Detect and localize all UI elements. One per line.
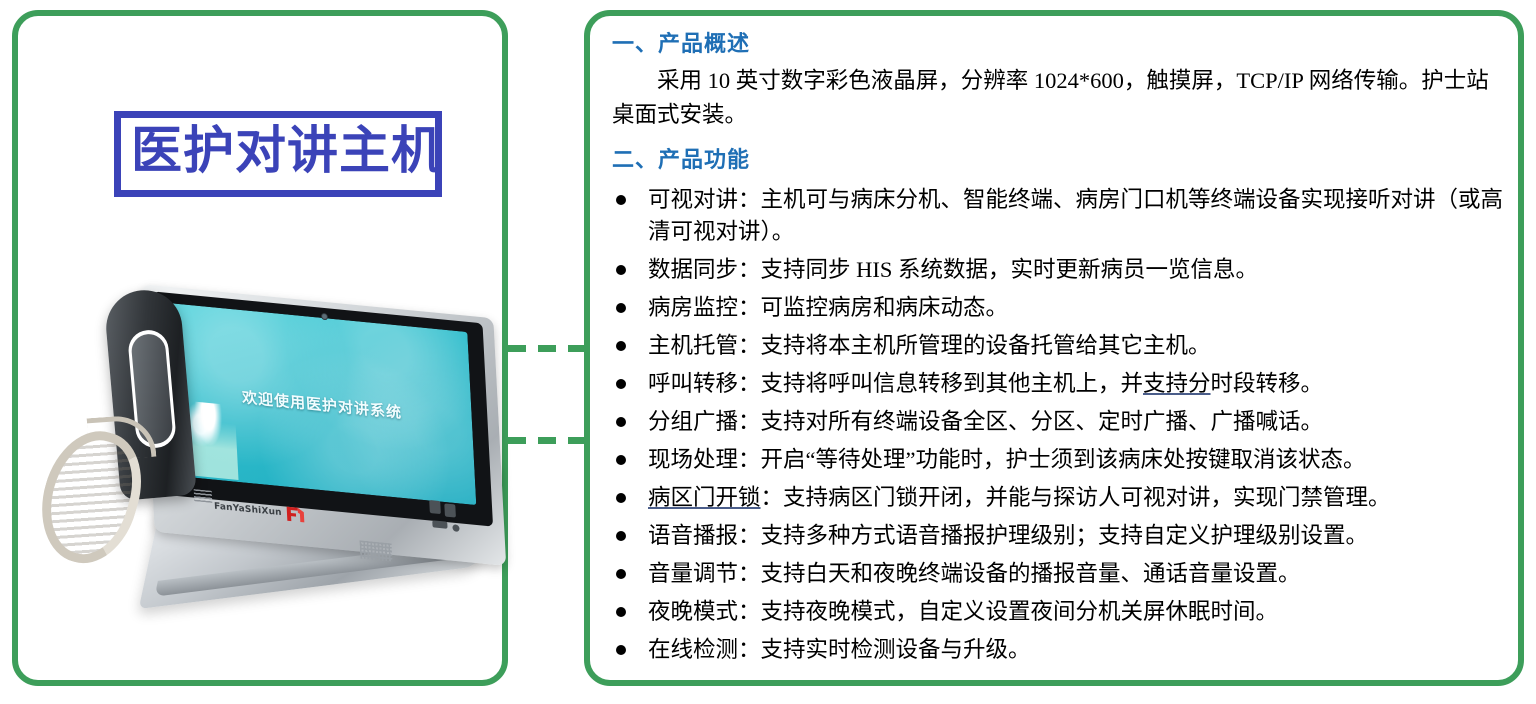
feature-text: 可视对讲：主机可与病床分机、智能终端、病房门口机等终端设备实现接听对讲（或高清可… [648,187,1503,244]
feature-text: 主机托管：支持将本主机所管理的设备托管给其它主机。 [648,333,1211,358]
page-title: 医护对讲主机 [131,125,425,179]
feature-text: 病房监控：可监控病房和病床动态。 [648,295,1008,320]
device-ports [427,496,473,541]
feature-text-tail: ：支持病区门锁开闭，并能与探访人可视对讲，实现门禁管理。 [761,485,1391,510]
product-title-box: 医护对讲主机 [114,111,442,197]
connector-dashed-top [508,345,586,352]
bullet-icon [616,303,626,313]
bullet-icon [616,645,626,655]
list-item: 数据同步：支持同步 HIS 系统数据，实时更新病员一览信息。 [612,254,1512,286]
product-image-panel: 医护对讲主机 欢迎使用医护对讲系统 FanYaShiXun [12,10,508,686]
camera-icon [321,313,328,321]
port-usb-1 [429,500,441,514]
overview-heading: 一、产品概述 [612,26,1512,58]
product-description-content: 一、产品概述 采用 10 英寸数字彩色液晶屏，分辨率 1024*600，触摸屏，… [612,26,1512,672]
list-item: 夜晚模式：支持夜晚模式，自定义设置夜间分机关屏休眠时间。 [612,596,1512,628]
connector-dashed-bottom [508,437,586,444]
feature-text-tail: 时段转移。 [1211,371,1324,396]
speaker-grille-right-icon [360,540,393,561]
brand-logo-text: FanYaShiXun [214,501,282,518]
port-audio [452,524,459,532]
list-item: 音量调节：支持白天和夜晚终端设备的播报音量、通话音量设置。 [612,558,1512,590]
feature-text: 语音播报：支持多种方式语音播报护理级别；支持自定义护理级别设置。 [648,523,1368,548]
features-heading: 二、产品功能 [612,142,1512,174]
feature-text: 夜晚模式：支持夜晚模式，自定义设置夜间分机关屏休眠时间。 [648,599,1278,624]
list-item: 在线检测：支持实时检测设备与升级。 [612,634,1512,666]
feature-text: 现场处理：开启“等待处理”功能时，护士须到该病床处按键取消该状态。 [648,447,1365,472]
device-photo: 欢迎使用医护对讲系统 FanYaShiXun [36,284,498,624]
overview-paragraph: 采用 10 英寸数字彩色液晶屏，分辨率 1024*600，触摸屏，TCP/IP … [612,64,1492,132]
bullet-icon [616,379,626,389]
bullet-icon [616,455,626,465]
bullet-icon [616,195,626,205]
list-item: 分组广播：支持对所有终端设备全区、分区、定时广播、广播喊话。 [612,406,1512,438]
feature-text-underlined: 病区门开锁 [648,485,761,510]
bullet-icon [616,569,626,579]
list-item: 现场处理：开启“等待处理”功能时，护士须到该病床处按键取消该状态。 [612,444,1512,476]
bullet-icon [616,341,626,351]
feature-text: 音量调节：支持白天和夜晚终端设备的播报音量、通话音量设置。 [648,561,1301,586]
feature-list: 可视对讲：主机可与病床分机、智能终端、病房门口机等终端设备实现接听对讲（或高清可… [612,184,1512,665]
bullet-icon [616,607,626,617]
list-item: 主机托管：支持将本主机所管理的设备托管给其它主机。 [612,330,1512,362]
feature-text-underlined: 支持分 [1143,371,1211,396]
list-item: 病房监控：可监控病房和病床动态。 [612,292,1512,324]
bullet-icon [616,417,626,427]
speaker-grille-left-icon [194,489,213,503]
list-item: 语音播报：支持多种方式语音播报护理级别；支持自定义护理级别设置。 [612,520,1512,552]
feature-text: 分组广播：支持对所有终端设备全区、分区、定时广播、广播喊话。 [648,409,1323,434]
feature-text: 数据同步：支持同步 HIS 系统数据，实时更新病员一览信息。 [648,257,1258,282]
feature-text: 呼叫转移：支持将呼叫信息转移到其他主机上，并 [648,371,1143,396]
port-network [432,520,447,528]
device-screen: 欢迎使用医护对讲系统 [168,303,477,505]
fanyashixun-logo-icon [284,504,305,523]
feature-text: 在线检测：支持实时检测设备与升级。 [648,637,1031,662]
list-item: 病区门开锁：支持病区门锁开闭，并能与探访人可视对讲，实现门禁管理。 [612,482,1512,514]
list-item: 呼叫转移：支持将呼叫信息转移到其他主机上，并支持分时段转移。 [612,368,1512,400]
bullet-icon [616,265,626,275]
port-usb-2 [444,503,456,517]
list-item: 可视对讲：主机可与病床分机、智能终端、病房门口机等终端设备实现接听对讲（或高清可… [612,184,1512,248]
bullet-icon [616,493,626,503]
device-screen-welcome-text: 欢迎使用医护对讲系统 [242,386,403,423]
bullet-icon [616,531,626,541]
